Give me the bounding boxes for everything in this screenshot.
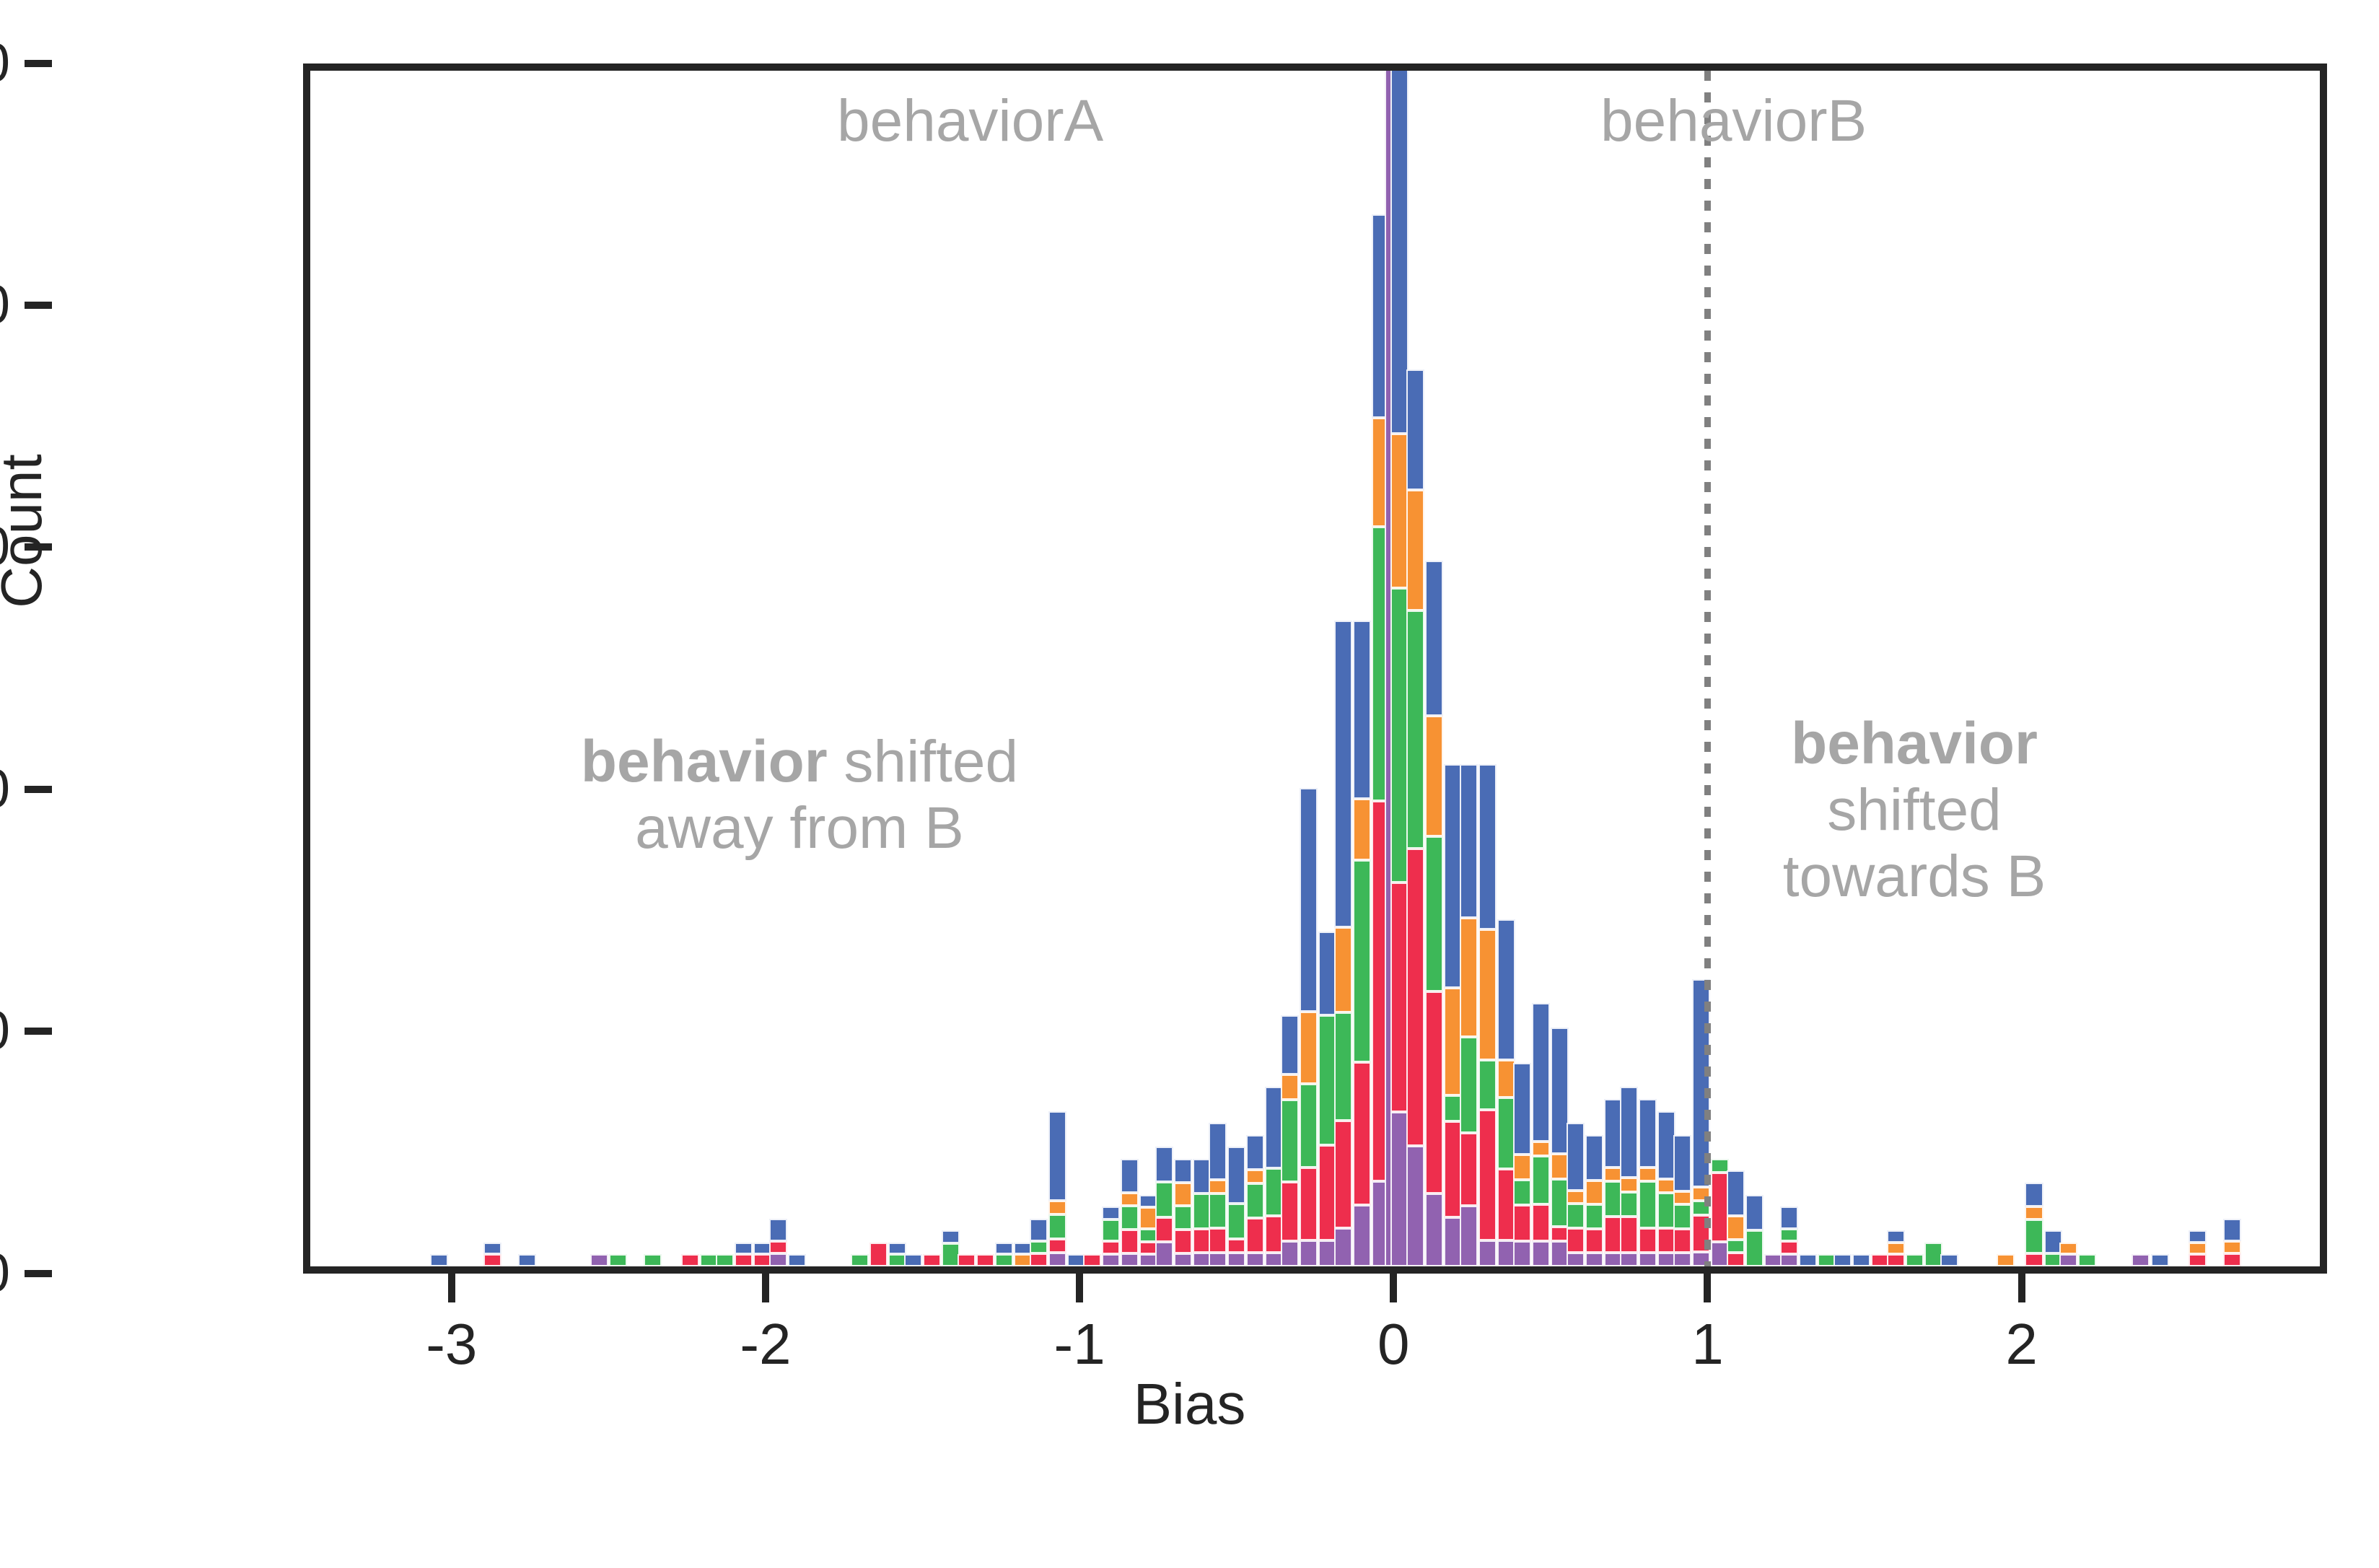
histogram-segment-orange <box>1532 1142 1550 1156</box>
histogram-segment-green <box>1406 610 1424 849</box>
histogram-segment-blue <box>1745 1195 1764 1231</box>
histogram-segment-purple <box>1567 1253 1585 1266</box>
histogram-segment-purple <box>1121 1253 1139 1266</box>
histogram-segment-red <box>1585 1229 1603 1253</box>
histogram-segment-purple <box>1102 1254 1120 1266</box>
histogram-segment-blue <box>1048 1111 1066 1201</box>
histogram-bar <box>2189 1230 2207 1266</box>
histogram-bar <box>716 1254 734 1266</box>
histogram-segment-orange <box>1281 1074 1299 1100</box>
histogram-segment-red <box>2223 1253 2241 1266</box>
histogram-segment-red <box>1460 1133 1478 1206</box>
histogram-bar <box>518 1254 536 1266</box>
histogram-bar <box>995 1243 1013 1266</box>
x-tick-label: -3 <box>358 1311 546 1378</box>
histogram-bar <box>1102 1206 1120 1266</box>
histogram-bar <box>2078 1254 2096 1266</box>
histogram-segment-red <box>1478 1110 1497 1240</box>
histogram-segment-green <box>1460 1037 1478 1133</box>
histogram-segment-purple <box>590 1254 608 1266</box>
histogram-segment-red <box>1620 1217 1638 1253</box>
histogram-segment-red <box>1227 1239 1245 1253</box>
histogram-segment-blue <box>2025 1183 2043 1206</box>
histogram-bar <box>1639 1099 1657 1266</box>
histogram-bar <box>1852 1254 1870 1266</box>
histogram-segment-green <box>1209 1193 1227 1229</box>
histogram-bar <box>735 1243 753 1266</box>
y-tick-label: 40 <box>0 758 10 820</box>
histogram-segment-red <box>1727 1253 1745 1266</box>
reference-line-bias-1 <box>1704 71 1711 1266</box>
histogram-segment-red <box>2025 1253 2043 1266</box>
histogram-segment-green <box>1030 1241 1048 1254</box>
histogram-segment-blue <box>2151 1254 2169 1266</box>
histogram-bar <box>1048 1111 1066 1266</box>
histogram-segment-orange <box>1513 1155 1531 1180</box>
histogram-bar <box>1585 1135 1603 1266</box>
histogram-segment-red <box>1532 1204 1550 1241</box>
histogram-segment-orange <box>1887 1243 1905 1255</box>
histogram-segment-purple <box>1227 1253 1245 1266</box>
histogram-segment-blue <box>1833 1254 1852 1266</box>
histogram-segment-red <box>958 1254 976 1266</box>
histogram-segment-green <box>995 1254 1013 1266</box>
histogram-segment-orange <box>1460 918 1478 1037</box>
histogram-bar <box>1334 621 1352 1266</box>
y-tick-mark <box>25 302 52 309</box>
histogram-bar <box>1940 1254 1958 1266</box>
histogram-segment-green <box>644 1254 662 1266</box>
histogram-segment-purple <box>1048 1253 1066 1266</box>
histogram-segment-green <box>1102 1219 1120 1242</box>
histogram-segment-red <box>1780 1241 1798 1253</box>
histogram-segment-red <box>1246 1218 1264 1253</box>
annotation-right-line3: towards B <box>1615 844 2214 910</box>
histogram-segment-green <box>1513 1180 1531 1205</box>
histogram-bar <box>1513 1063 1531 1266</box>
histogram-bar <box>869 1243 888 1266</box>
histogram-segment-blue <box>1353 621 1371 799</box>
histogram-segment-blue <box>1030 1219 1048 1241</box>
histogram-segment-purple <box>1353 1205 1371 1266</box>
histogram-segment-red <box>1639 1228 1657 1253</box>
histogram-bar <box>1425 561 1443 1266</box>
annotation-shifted-towards: behavior shifted towards B <box>1615 711 2214 909</box>
histogram-segment-orange <box>1673 1191 1691 1205</box>
histogram-segment-purple <box>1532 1241 1550 1266</box>
histogram-bar <box>923 1254 941 1266</box>
histogram-bar <box>1727 1170 1745 1266</box>
histogram-segment-blue <box>1406 369 1424 490</box>
histogram-segment-blue <box>1334 621 1352 927</box>
histogram-bar <box>1174 1159 1192 1266</box>
histogram-segment-blue <box>769 1219 787 1241</box>
histogram-bar <box>1906 1254 1924 1266</box>
histogram-bar <box>1567 1123 1585 1266</box>
x-tick-label: 2 <box>1928 1311 2116 1378</box>
histogram-segment-green <box>1334 1012 1352 1121</box>
x-tick-label: 1 <box>1613 1311 1801 1378</box>
histogram-segment-orange <box>1727 1216 1745 1240</box>
histogram-segment-blue <box>1425 561 1443 716</box>
histogram-segment-purple <box>1155 1242 1173 1266</box>
histogram-bar <box>1997 1254 2015 1266</box>
y-tick-label: 60 <box>0 515 10 578</box>
histogram-segment-orange <box>1121 1193 1139 1206</box>
annotation-left-bold: behavior <box>581 729 828 794</box>
histogram-segment-green <box>1478 1060 1497 1109</box>
histogram-segment-blue <box>430 1254 448 1266</box>
histogram-segment-blue <box>1281 1015 1299 1074</box>
histogram-bar <box>430 1254 448 1266</box>
histogram-segment-red <box>769 1241 787 1254</box>
x-tick-mark <box>2018 1274 2025 1302</box>
histogram-segment-red <box>1030 1253 1048 1266</box>
histogram-segment-green <box>1780 1229 1798 1241</box>
histogram-bar <box>788 1254 806 1266</box>
histogram-segment-green <box>1906 1254 1924 1266</box>
histogram-segment-orange <box>1425 716 1443 836</box>
histogram-segment-green <box>1745 1230 1764 1266</box>
histogram-bar <box>1745 1195 1764 1266</box>
histogram-segment-blue <box>1780 1206 1798 1229</box>
histogram-segment-orange <box>2059 1243 2077 1255</box>
histogram-bar <box>483 1243 501 1266</box>
histogram-segment-green <box>1227 1204 1245 1239</box>
histogram-segment-orange <box>1048 1201 1066 1214</box>
histogram-segment-red <box>1102 1241 1120 1253</box>
histogram-bar <box>1281 1015 1299 1266</box>
y-tick-label: 20 <box>0 999 10 1062</box>
histogram-segment-orange <box>1353 799 1371 860</box>
histogram-segment-green <box>1585 1204 1603 1229</box>
histogram-segment-orange <box>1334 927 1352 1012</box>
x-tick-label: 0 <box>1300 1311 1487 1378</box>
y-tick-mark <box>25 60 52 67</box>
histogram-segment-purple <box>1620 1253 1638 1266</box>
chart-canvas: Count 100 80 60 40 20 0 -3 -2 -1 0 <box>0 0 2379 1568</box>
x-axis-label: Bias <box>0 1371 2379 1437</box>
x-tick-mark <box>448 1274 455 1302</box>
x-tick-label: -1 <box>986 1311 1173 1378</box>
histogram-segment-orange <box>1209 1180 1227 1193</box>
histogram-segment-red <box>1567 1228 1585 1253</box>
histogram-bar <box>2151 1254 2169 1266</box>
histogram-bar <box>1478 764 1497 1266</box>
histogram-segment-green <box>1727 1240 1745 1253</box>
histogram-segment-orange <box>1585 1181 1603 1205</box>
histogram-segment-red <box>869 1243 888 1266</box>
histogram-segment-purple <box>1673 1253 1691 1266</box>
histogram-bar <box>1532 1003 1550 1266</box>
histogram-segment-blue <box>483 1243 501 1255</box>
histogram-segment-blue <box>942 1230 960 1243</box>
histogram-segment-green <box>1620 1192 1638 1217</box>
histogram-segment-red <box>681 1254 699 1266</box>
histogram-segment-purple <box>1281 1241 1299 1266</box>
histogram-segment-green <box>1639 1181 1657 1228</box>
histogram-segment-green <box>1353 860 1371 1061</box>
histogram-segment-orange <box>1639 1168 1657 1181</box>
histogram-segment-purple <box>1406 1146 1424 1266</box>
histogram-segment-red <box>2189 1254 2207 1266</box>
histogram-segment-orange <box>2223 1241 2241 1254</box>
histogram-segment-green <box>1246 1183 1264 1218</box>
x-tick-label: -2 <box>672 1311 859 1378</box>
histogram-bar <box>2059 1243 2077 1266</box>
histogram-bar <box>1353 621 1371 1266</box>
histogram-segment-blue <box>1887 1230 1905 1243</box>
histogram-segment-red <box>1155 1217 1173 1242</box>
histogram-segment-green <box>1174 1206 1192 1230</box>
histogram-bar <box>1030 1219 1048 1266</box>
histogram-segment-blue <box>904 1254 922 1266</box>
histogram-segment-green <box>1300 1084 1318 1168</box>
histogram-segment-blue <box>1799 1254 1817 1266</box>
histogram-segment-orange <box>1246 1170 1264 1183</box>
annotation-left-line2: away from B <box>395 795 1204 862</box>
histogram-bar <box>1833 1254 1852 1266</box>
histogram-bar <box>1083 1254 1101 1266</box>
y-tick-label: 0 <box>0 1242 10 1305</box>
histogram-bar <box>769 1219 787 1266</box>
histogram-segment-red <box>483 1254 501 1266</box>
x-tick-mark <box>1076 1274 1083 1302</box>
histogram-segment-purple <box>1300 1240 1318 1266</box>
histogram-segment-red <box>1673 1229 1691 1253</box>
histogram-segment-orange <box>1478 929 1497 1060</box>
histogram-segment-purple <box>1334 1228 1352 1266</box>
histogram-segment-green <box>1281 1100 1299 1181</box>
histogram-segment-blue <box>1673 1135 1691 1191</box>
histogram-bar <box>958 1254 976 1266</box>
histogram-bar <box>1300 788 1318 1266</box>
histogram-segment-green <box>1155 1182 1173 1217</box>
histogram-bar <box>1209 1123 1227 1266</box>
histogram-segment-green <box>609 1254 627 1266</box>
annotation-shifted-away: behavior shifted away from B <box>395 729 1204 862</box>
histogram-segment-green <box>2078 1254 2096 1266</box>
histogram-bar <box>681 1254 699 1266</box>
histogram-segment-green <box>1532 1156 1550 1204</box>
histogram-segment-red <box>1048 1239 1066 1253</box>
histogram-segment-green <box>2025 1219 2043 1253</box>
histogram-segment-blue <box>1174 1159 1192 1183</box>
annotation-behavior-b: behaviorB <box>1600 88 1867 154</box>
histogram-segment-blue <box>1460 764 1478 918</box>
histogram-segment-blue <box>1852 1254 1870 1266</box>
histogram-segment-red <box>1406 849 1424 1146</box>
histogram-segment-blue <box>1209 1123 1227 1180</box>
histogram-segment-blue <box>1567 1123 1585 1190</box>
histogram-bar <box>1799 1254 1817 1266</box>
histogram-segment-orange <box>1406 490 1424 610</box>
histogram-segment-blue <box>1940 1254 1958 1266</box>
annotation-right-line2: shifted <box>1615 777 2214 844</box>
histogram-segment-red <box>1353 1062 1371 1205</box>
histogram-bars <box>310 71 2320 1266</box>
histogram-segment-blue <box>1102 1206 1120 1219</box>
histogram-segment-blue <box>1639 1099 1657 1168</box>
histogram-bar <box>851 1254 869 1266</box>
histogram-segment-red <box>1887 1254 1905 1266</box>
histogram-segment-blue <box>1532 1003 1550 1142</box>
annotation-left-rest: shifted <box>828 729 1018 794</box>
y-tick-mark <box>25 1028 52 1035</box>
histogram-segment-orange <box>2189 1243 2207 1255</box>
histogram-segment-red <box>1174 1230 1192 1253</box>
histogram-segment-blue <box>1513 1063 1531 1155</box>
histogram-segment-blue <box>888 1243 906 1255</box>
histogram-segment-purple <box>1513 1241 1531 1266</box>
histogram-segment-orange <box>1997 1254 2015 1266</box>
histogram-segment-blue <box>1727 1170 1745 1215</box>
histogram-segment-red <box>1083 1254 1101 1266</box>
histogram-segment-blue <box>1155 1147 1173 1182</box>
histogram-bar <box>644 1254 662 1266</box>
x-tick-mark <box>762 1274 769 1302</box>
histogram-segment-purple <box>769 1253 787 1266</box>
histogram-segment-red <box>1513 1205 1531 1241</box>
histogram-segment-blue <box>1121 1159 1139 1193</box>
histogram-segment-blue <box>1246 1135 1264 1170</box>
histogram-segment-green <box>851 1254 869 1266</box>
histogram-segment-orange <box>1567 1191 1585 1204</box>
histogram-segment-red <box>976 1254 994 1266</box>
histogram-bar <box>904 1254 922 1266</box>
histogram-segment-purple <box>2132 1254 2150 1266</box>
histogram-bar <box>1121 1159 1139 1266</box>
histogram-bar <box>1673 1135 1691 1266</box>
histogram-segment-red <box>1300 1168 1318 1240</box>
histogram-segment-red <box>1425 991 1443 1193</box>
histogram-segment-orange <box>1620 1178 1638 1191</box>
y-tick-mark <box>25 543 52 551</box>
x-tick-mark <box>1704 1274 1711 1302</box>
histogram-segment-blue <box>1497 919 1515 1060</box>
histogram-segment-blue <box>1585 1135 1603 1181</box>
histogram-bar <box>2223 1219 2241 1266</box>
histogram-bar <box>2132 1254 2150 1266</box>
annotation-behavior-a: behaviorA <box>837 88 1103 154</box>
histogram-segment-blue <box>2189 1230 2207 1243</box>
histogram-segment-blue <box>788 1254 806 1266</box>
histogram-segment-green <box>1048 1214 1066 1239</box>
histogram-segment-blue <box>1478 764 1497 929</box>
histogram-segment-purple <box>1639 1253 1657 1266</box>
histogram-segment-purple <box>1780 1254 1798 1266</box>
histogram-segment-red <box>1121 1230 1139 1253</box>
histogram-segment-purple <box>1246 1253 1264 1266</box>
x-tick-mark <box>1390 1274 1397 1302</box>
histogram-segment-blue <box>995 1243 1013 1255</box>
histogram-bar <box>1155 1147 1173 1266</box>
histogram-bar <box>976 1254 994 1266</box>
histogram-bar <box>1887 1230 1905 1266</box>
histogram-segment-blue <box>2223 1219 2241 1241</box>
y-tick-mark <box>25 1270 52 1277</box>
histogram-segment-red <box>1334 1121 1352 1229</box>
histogram-segment-red <box>1281 1182 1299 1241</box>
histogram-segment-orange <box>2025 1206 2043 1219</box>
histogram-segment-red <box>735 1254 753 1266</box>
histogram-segment-blue <box>735 1243 753 1255</box>
histogram-segment-purple <box>1425 1193 1443 1266</box>
histogram-bar <box>1780 1206 1798 1266</box>
histogram-segment-blue <box>1227 1147 1245 1204</box>
histogram-bar <box>609 1254 627 1266</box>
plot-area <box>303 63 2327 1274</box>
histogram-segment-blue <box>1300 788 1318 1011</box>
histogram-bar <box>1246 1135 1264 1266</box>
y-tick-mark <box>25 786 52 793</box>
histogram-segment-green <box>1121 1206 1139 1230</box>
histogram-segment-purple <box>1585 1253 1603 1266</box>
histogram-segment-purple <box>2059 1254 2077 1266</box>
histogram-segment-purple <box>1209 1253 1227 1266</box>
histogram-segment-purple <box>1174 1253 1192 1266</box>
histogram-segment-blue <box>518 1254 536 1266</box>
histogram-segment-orange <box>1174 1183 1192 1206</box>
histogram-segment-green <box>1567 1204 1585 1228</box>
histogram-bar <box>1406 369 1424 1266</box>
histogram-segment-purple <box>1460 1206 1478 1266</box>
histogram-bar <box>1227 1147 1245 1266</box>
annotation-right-bold: behavior <box>1791 711 2038 776</box>
histogram-segment-purple <box>1478 1240 1497 1266</box>
y-tick-label: 100 <box>0 32 10 95</box>
y-tick-label: 80 <box>0 273 10 336</box>
histogram-segment-green <box>1425 836 1443 991</box>
histogram-segment-blue <box>1620 1087 1638 1178</box>
histogram-segment-red <box>923 1254 941 1266</box>
histogram-segment-green <box>1673 1204 1691 1229</box>
histogram-segment-green <box>716 1254 734 1266</box>
histogram-segment-orange <box>1300 1012 1318 1084</box>
histogram-bar <box>2025 1183 2043 1266</box>
histogram-bar <box>1460 764 1478 1266</box>
histogram-bar <box>590 1254 608 1266</box>
histogram-bar <box>1620 1087 1638 1266</box>
histogram-segment-red <box>1209 1228 1227 1253</box>
